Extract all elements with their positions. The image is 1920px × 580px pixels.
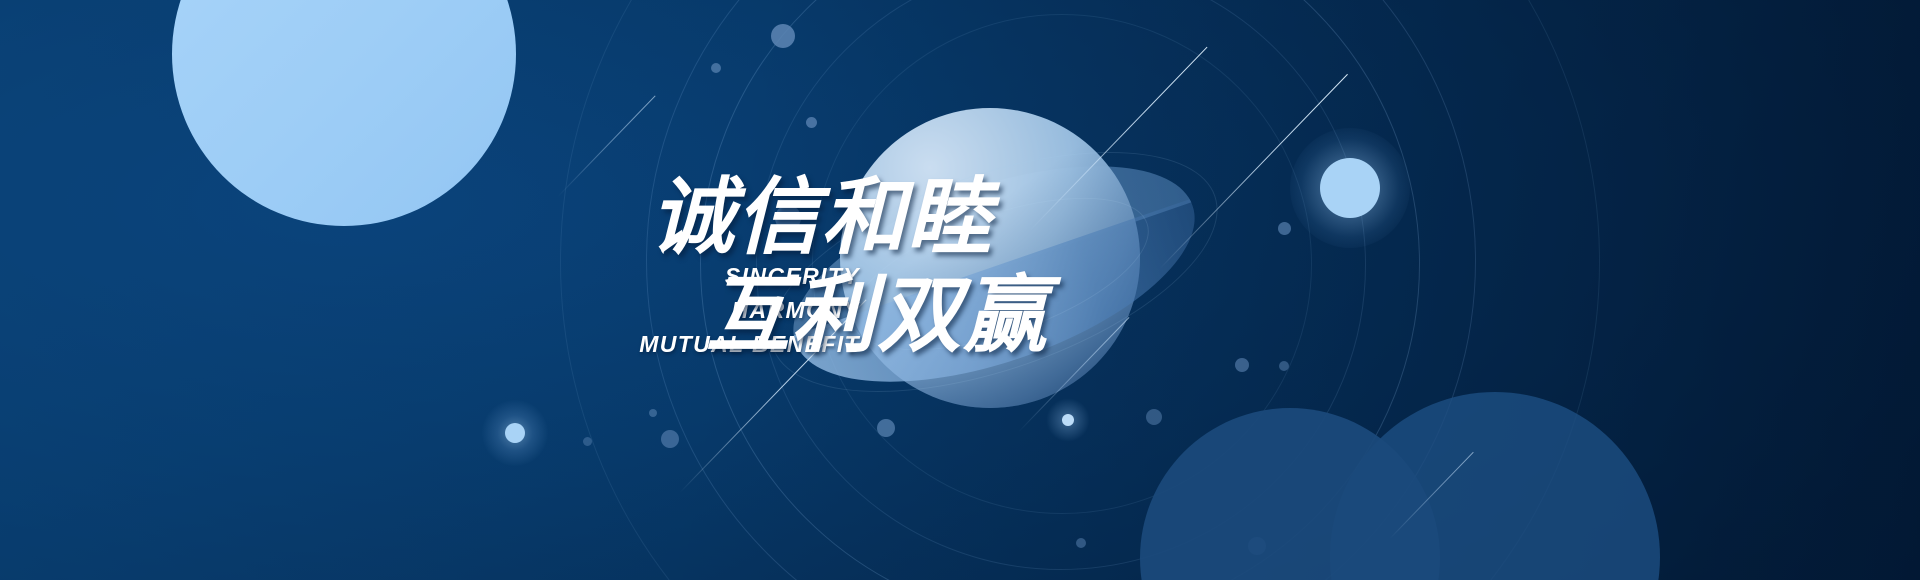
glow-orb-core [505, 423, 525, 443]
glow-orb-core [1062, 414, 1074, 426]
glow-orb-left [482, 400, 548, 466]
orbit-node-dot [1076, 538, 1086, 548]
headline-line-2: 互利双赢 [706, 248, 1049, 369]
banner-copy: SINCERITY HARMONY MUTUAL BENEFIT 诚信和睦 互利… [620, 150, 1360, 410]
orbit-node-dot [771, 24, 795, 48]
orbit-node-dot [661, 430, 679, 448]
orbit-node-dot [583, 437, 592, 446]
orbit-node-dot [711, 63, 721, 73]
orbit-node-dot [649, 409, 657, 417]
hero-banner: SINCERITY HARMONY MUTUAL BENEFIT 诚信和睦 互利… [0, 0, 1920, 580]
